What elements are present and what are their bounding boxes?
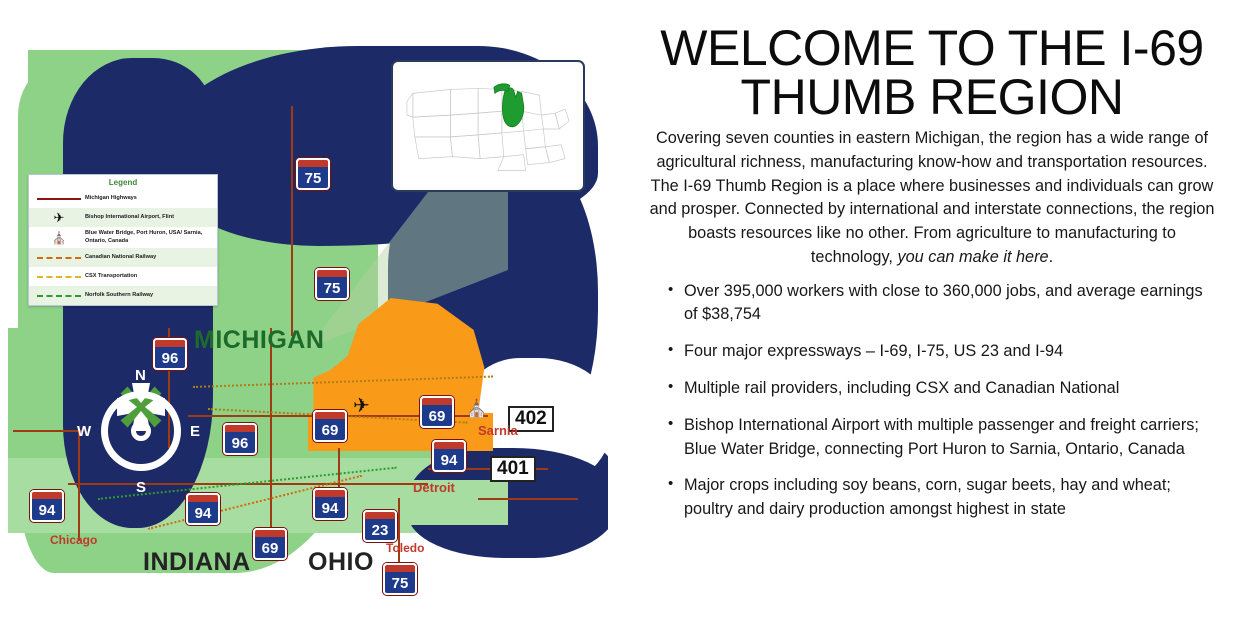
road-401: [478, 498, 578, 500]
shield-i94-chicago: 94: [30, 490, 64, 522]
shield-i94-west: 94: [186, 493, 220, 525]
highway-401-box: 401: [490, 456, 536, 482]
legend-title: Legend: [29, 175, 217, 189]
city-label-toledo: Toledo: [386, 541, 424, 555]
legend-row-highways: Michigan Highways: [29, 189, 217, 208]
michigan-map: ✈ ⛪ 96 96 75 75 69 69 69 94 94 94 94 23 …: [8, 28, 608, 598]
legend-row-cn-railway: Canadian National Railway: [29, 248, 217, 267]
legend-label-norfolk: Norfolk Southern Railway: [85, 292, 153, 300]
usa-outline-svg: [399, 68, 577, 184]
compass-rose: N E S W: [93, 383, 189, 479]
legend-row-norfolk: Norfolk Southern Railway: [29, 286, 217, 305]
intro-text-part2: .: [1049, 248, 1054, 266]
shield-i94-detroit: 94: [432, 440, 466, 472]
intro-emphasis: you can make it here: [897, 248, 1048, 266]
legend-row-airport: ✈ Bishop International Airport, Flint: [29, 208, 217, 227]
city-label-chicago: Chicago: [50, 533, 97, 547]
shield-i94-mid: 94: [313, 488, 347, 520]
city-label-sarnia: Sarnia: [478, 423, 518, 438]
shield-i75-north: 75: [296, 158, 330, 190]
intro-text-part1: Covering seven counties in eastern Michi…: [650, 129, 1215, 266]
compass-hub: [131, 421, 151, 441]
list-item: Major crops including soy beans, corn, s…: [668, 474, 1218, 522]
yellow-dashed-line-icon: [33, 276, 85, 278]
orange-dashed-line-icon: [33, 257, 85, 259]
legend-label-airport: Bishop International Airport, Flint: [85, 214, 174, 222]
shield-i69-south: 69: [253, 528, 287, 560]
facts-list: Over 395,000 workers with close to 360,0…: [642, 280, 1222, 522]
bridge-icon: ⛪: [466, 400, 487, 417]
usa-inset-canvas: [399, 68, 577, 184]
city-label-detroit: Detroit: [413, 480, 455, 495]
map-legend: Legend Michigan Highways ✈ Bishop Intern…: [28, 174, 218, 306]
shield-i69-east: 69: [420, 396, 454, 428]
slide-root: ✈ ⛪ 96 96 75 75 69 69 69 94 94 94 94 23 …: [0, 0, 1240, 620]
road-toledo: [398, 498, 400, 568]
solid-red-line-icon: [33, 198, 85, 200]
page-title: WELCOME TO THE I-69 THUMB REGION: [642, 24, 1222, 121]
legend-label-bridge: Blue Water Bridge, Port Huron, USA/ Sarn…: [85, 230, 213, 245]
legend-row-bridge: ⛪ Blue Water Bridge, Port Huron, USA/ Sa…: [29, 227, 217, 248]
state-label-ohio: OHIO: [308, 548, 374, 577]
road-i69-spine: [270, 328, 272, 538]
shield-us23: 23: [363, 510, 397, 542]
usa-locator-inset: [391, 60, 585, 192]
airport-icon: ✈: [353, 396, 370, 416]
list-item: Bishop International Airport with multip…: [668, 414, 1218, 462]
legend-label-cn-railway: Canadian National Railway: [85, 254, 156, 262]
legend-label-highways: Michigan Highways: [85, 195, 137, 203]
shield-i75-toledo: 75: [383, 563, 417, 595]
michigan-highlight: [502, 88, 523, 127]
intro-paragraph: Covering seven counties in eastern Michi…: [648, 127, 1216, 270]
list-item: Multiple rail providers, including CSX a…: [668, 377, 1218, 401]
bridge-icon: ⛪: [33, 232, 85, 244]
shield-i96-north: 96: [153, 338, 187, 370]
state-label-indiana: INDIANA: [143, 548, 251, 577]
legend-row-csx: CSX Transportation: [29, 267, 217, 286]
state-label-michigan: MICHIGAN: [194, 326, 324, 355]
map-pane: ✈ ⛪ 96 96 75 75 69 69 69 94 94 94 94 23 …: [0, 0, 620, 620]
shield-i75-mid: 75: [315, 268, 349, 300]
list-item: Over 395,000 workers with close to 360,0…: [668, 280, 1218, 328]
shield-i96-mid: 96: [223, 423, 257, 455]
compass-north-label: N: [135, 367, 146, 384]
compass-south-label: S: [136, 479, 146, 496]
compass-west-label: W: [77, 423, 91, 440]
compass-east-label: E: [190, 423, 200, 440]
road-i75-north: [291, 106, 293, 336]
shield-i69-west: 69: [313, 410, 347, 442]
legend-label-csx: CSX Transportation: [85, 273, 137, 281]
list-item: Four major expressways – I-69, I-75, US …: [668, 340, 1218, 364]
road-chicago-link: [13, 430, 83, 432]
airplane-icon: ✈: [33, 211, 85, 224]
content-pane: WELCOME TO THE I-69 THUMB REGION Coverin…: [620, 0, 1240, 620]
road-chicago-south: [78, 430, 80, 540]
green-dashed-line-icon: [33, 295, 85, 297]
